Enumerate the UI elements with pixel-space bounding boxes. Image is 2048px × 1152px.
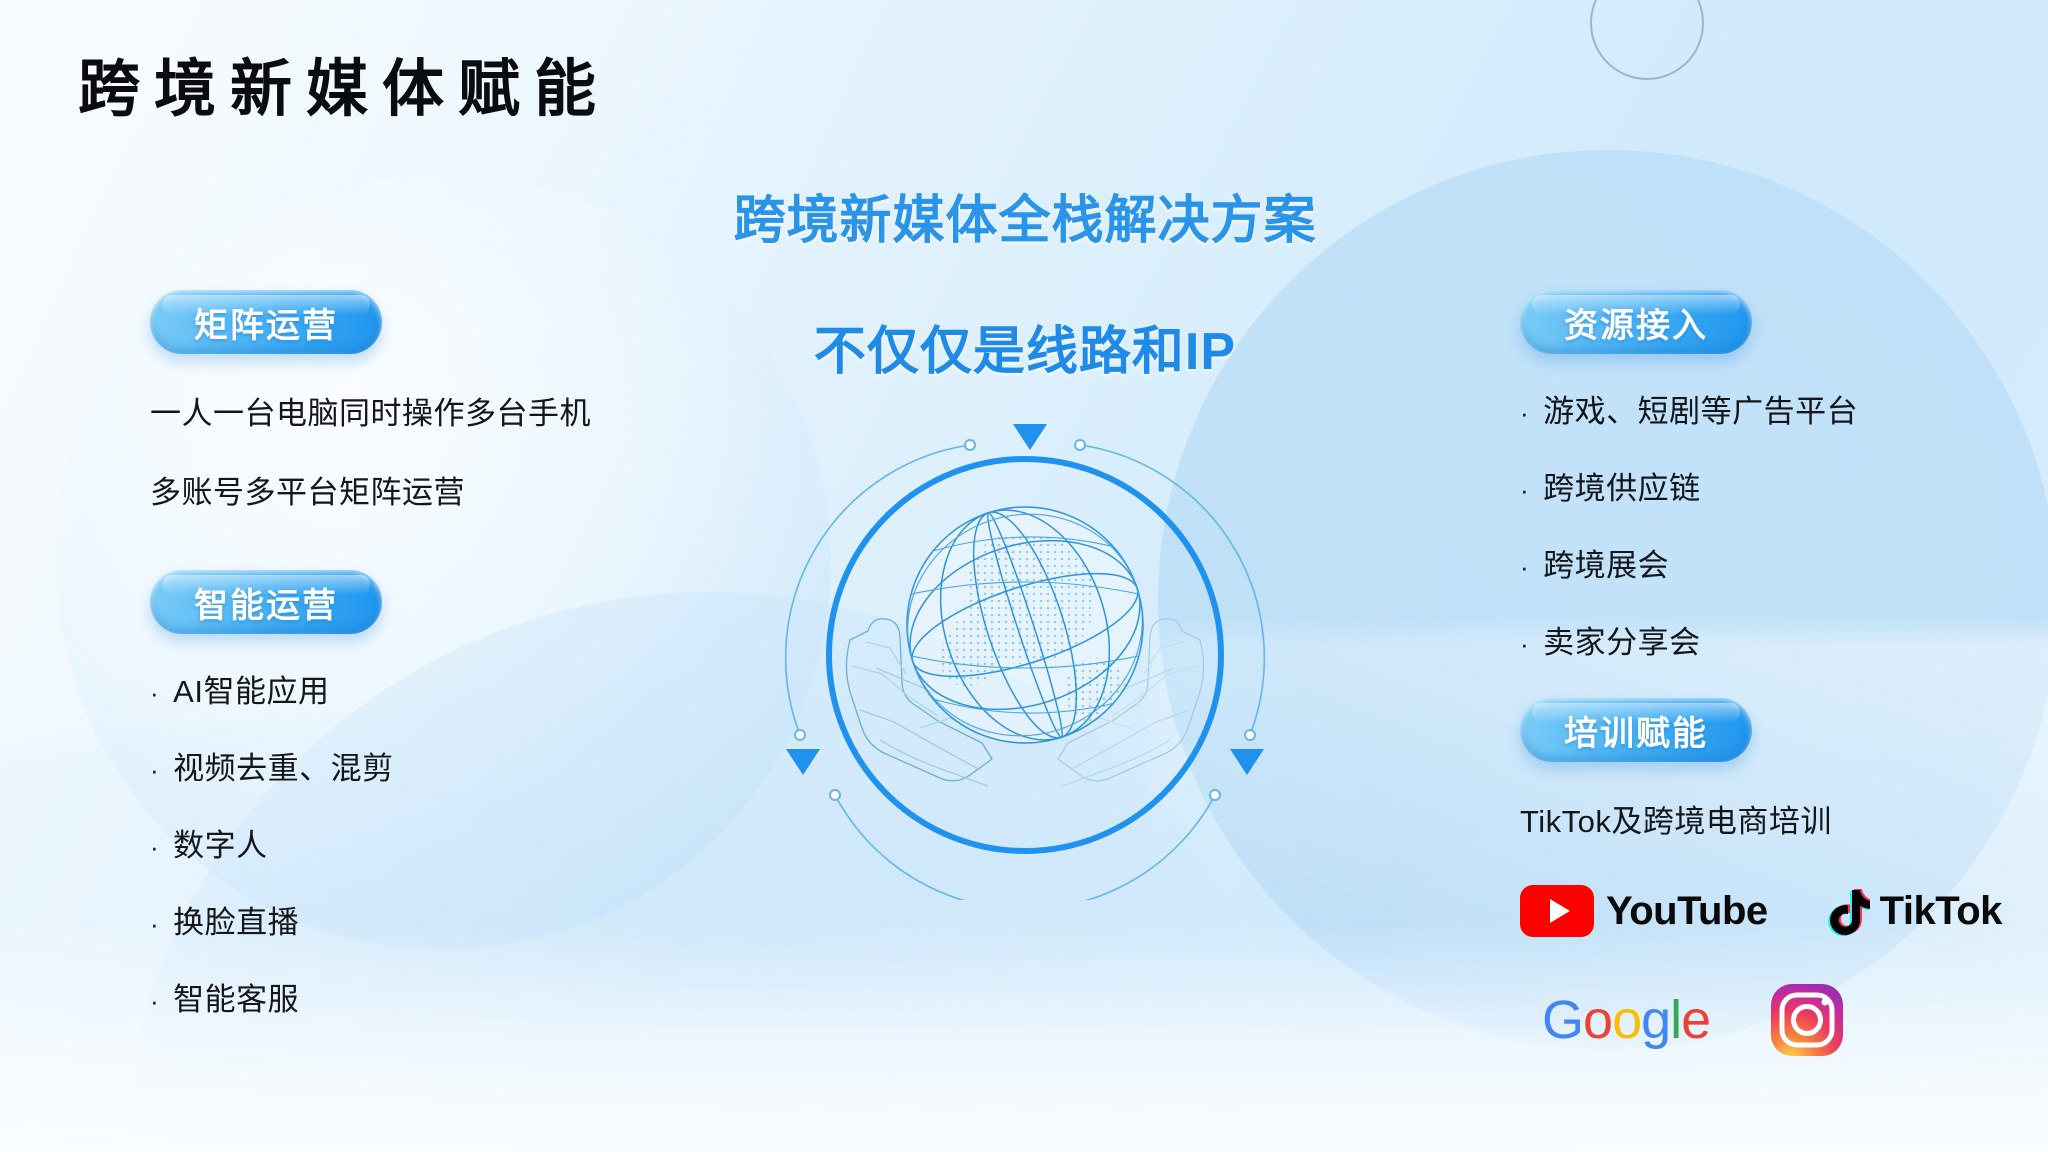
list-item: · 换脸直播	[150, 897, 710, 942]
pill-resource-access[interactable]: 资源接入	[1520, 290, 1752, 354]
list-item-label: 视频去重、混剪	[173, 743, 394, 788]
list-item: · 数字人	[150, 820, 710, 865]
list-item-label: 智能客服	[173, 974, 299, 1019]
youtube-wordmark: YouTube	[1606, 889, 1768, 934]
bullet-dot-icon: ·	[150, 834, 159, 860]
logo-row-secondary: Google	[1520, 983, 2040, 1057]
pill-matrix-operations[interactable]: 矩阵运营	[150, 290, 382, 354]
resource-access-list: · 游戏、短剧等广告平台 · 跨境供应链 · 跨境展会 · 卖家分享会	[1520, 386, 2040, 662]
matrix-line-1: 一人一台电脑同时操作多台手机	[150, 388, 710, 433]
tiktok-note-icon	[1824, 886, 1870, 936]
list-item-label: 换脸直播	[173, 897, 299, 942]
list-item: · 卖家分享会	[1520, 617, 2040, 662]
list-item: · 跨境展会	[1520, 540, 2040, 585]
bullet-dot-icon: ·	[150, 680, 159, 706]
bullet-dot-icon: ·	[150, 911, 159, 937]
list-item-label: AI智能应用	[173, 666, 329, 711]
google-letter-g2: g	[1641, 990, 1670, 1050]
center-headings: 跨境新媒体全栈解决方案 不仅仅是线路和IP	[700, 178, 1350, 384]
google-letter-g1: G	[1542, 990, 1583, 1050]
list-item: · 游戏、短剧等广告平台	[1520, 386, 2040, 431]
google-letter-e: e	[1681, 990, 1710, 1050]
section-training-empowerment: 培训赋能 TikTok及跨境电商培训 YouTube TikTok	[1520, 698, 2040, 1057]
center-heading: 跨境新媒体全栈解决方案	[700, 178, 1350, 253]
right-column: 资源接入 · 游戏、短剧等广告平台 · 跨境供应链 · 跨境展会 · 卖家分享会	[1520, 290, 2040, 1057]
google-logo: Google	[1542, 993, 1710, 1047]
tiktok-logo: TikTok	[1824, 886, 2002, 936]
globe-in-hands-illustration	[780, 410, 1270, 900]
list-item-label: 跨境供应链	[1543, 463, 1701, 508]
bullet-dot-icon: ·	[1520, 477, 1529, 503]
page-title: 跨境新媒体赋能	[78, 38, 610, 128]
instagram-logo	[1770, 983, 1844, 1057]
google-letter-l: l	[1670, 990, 1681, 1050]
bullet-dot-icon: ·	[150, 757, 159, 783]
matrix-line-2: 多账号多平台矩阵运营	[150, 467, 710, 512]
tiktok-wordmark: TikTok	[1880, 889, 2002, 934]
bullet-dot-icon: ·	[1520, 400, 1529, 426]
left-column: 矩阵运营 一人一台电脑同时操作多台手机 多账号多平台矩阵运营 智能运营 · AI…	[150, 290, 710, 1019]
section-matrix-operations: 矩阵运营 一人一台电脑同时操作多台手机 多账号多平台矩阵运营	[150, 290, 710, 512]
bullet-dot-icon: ·	[150, 988, 159, 1014]
section-smart-operations: 智能运营 · AI智能应用 · 视频去重、混剪 · 数字人 · 换脸直播	[150, 570, 710, 1019]
center-subheading: 不仅仅是线路和IP	[700, 309, 1350, 384]
training-line-1: TikTok及跨境电商培训	[1520, 796, 2040, 841]
decorative-ring-icon	[1590, 0, 1704, 80]
smart-operations-list: · AI智能应用 · 视频去重、混剪 · 数字人 · 换脸直播 · 智能客服	[150, 666, 710, 1019]
pill-training-empowerment[interactable]: 培训赋能	[1520, 698, 1752, 762]
google-letter-o1: o	[1583, 990, 1612, 1050]
list-item: · AI智能应用	[150, 666, 710, 711]
list-item: · 跨境供应链	[1520, 463, 2040, 508]
list-item-label: 跨境展会	[1543, 540, 1669, 585]
spacer	[150, 512, 710, 570]
list-item-label: 卖家分享会	[1543, 617, 1701, 662]
play-triangle-icon	[1550, 899, 1570, 923]
youtube-logo: YouTube	[1520, 885, 1768, 937]
logo-row-primary: YouTube TikTok	[1520, 885, 2040, 937]
pill-smart-operations[interactable]: 智能运营	[150, 570, 382, 634]
section-resource-access: 资源接入 · 游戏、短剧等广告平台 · 跨境供应链 · 跨境展会 · 卖家分享会	[1520, 290, 2040, 662]
bullet-dot-icon: ·	[1520, 554, 1529, 580]
list-item-label: 数字人	[173, 820, 268, 865]
bullet-dot-icon: ·	[1520, 631, 1529, 657]
slide-canvas: 跨境新媒体赋能 跨境新媒体全栈解决方案 不仅仅是线路和IP	[0, 0, 2048, 1152]
spacer	[1520, 662, 2040, 698]
list-item: · 智能客服	[150, 974, 710, 1019]
youtube-play-icon	[1520, 885, 1594, 937]
list-item-label: 游戏、短剧等广告平台	[1543, 386, 1858, 431]
google-letter-o2: o	[1612, 990, 1641, 1050]
list-item: · 视频去重、混剪	[150, 743, 710, 788]
